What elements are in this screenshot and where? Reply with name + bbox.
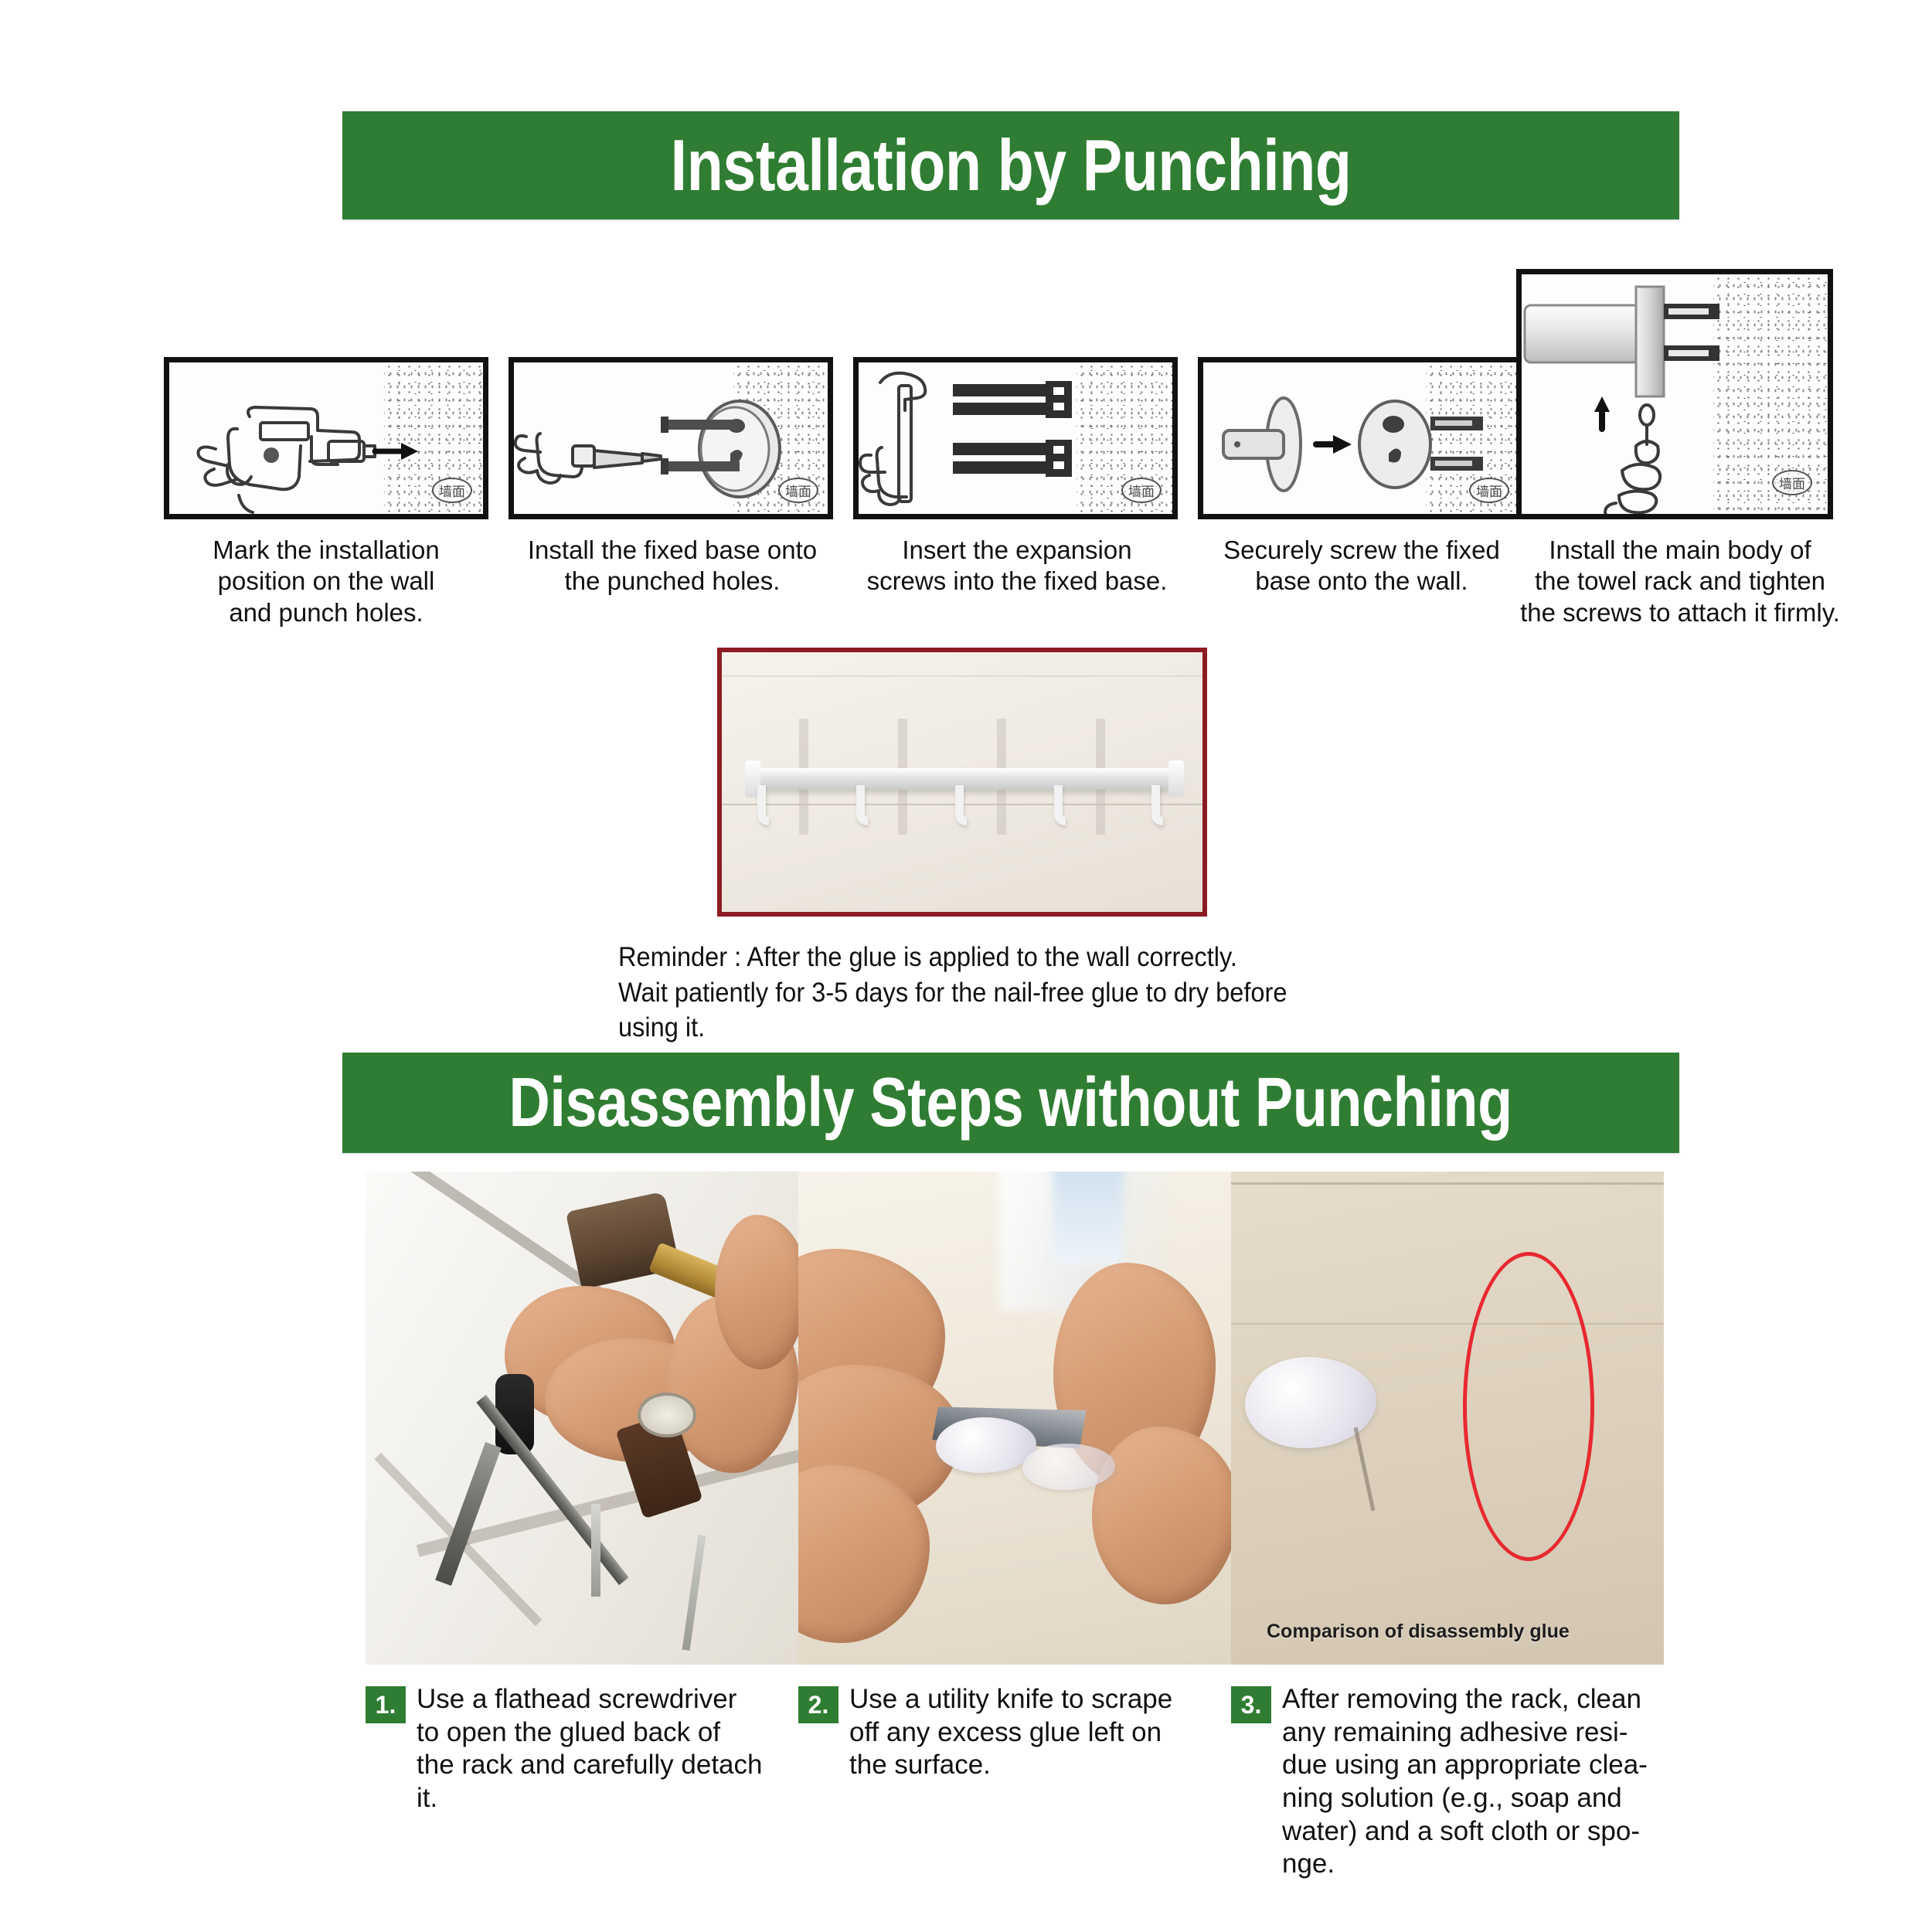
wall-label-icon: 墙面 <box>432 478 472 503</box>
disassembly-photo-2 <box>798 1172 1231 1665</box>
highlight-ellipse-icon <box>1463 1252 1594 1561</box>
install-step-panel-1: 墙面 <box>164 357 488 519</box>
install-step-caption-1: Mark the installation position on the wa… <box>147 535 505 628</box>
infographic-page: Installation by Punching 墙面 <box>0 0 1932 1932</box>
install-step-panel-5: 墙面 <box>1516 269 1833 519</box>
banner-installation-by-punching: Installation by Punching <box>342 111 1679 219</box>
install-step-panel-3: 墙面 <box>853 357 1178 519</box>
step-text-1: Use a flathead screwdriver to open the g… <box>417 1683 762 1815</box>
step-text-2: Use a utility knife to scrape off any ex… <box>849 1683 1172 1782</box>
reminder-text: Reminder : After the glue is applied to … <box>618 940 1380 1046</box>
photo-comparison-label: Comparison of disassembly glue <box>1267 1621 1570 1643</box>
wall-label-icon: 墙面 <box>1469 478 1509 503</box>
disassembly-photo-3: Comparison of disassembly glue <box>1231 1172 1664 1665</box>
install-step-caption-5: Install the main body of the towel rack … <box>1498 535 1862 628</box>
step-badge-2: 2. <box>798 1686 838 1723</box>
product-photo-hook-rack <box>717 648 1207 917</box>
disassembly-step-2: 2. Use a utility knife to scrape off any… <box>798 1683 1231 1782</box>
install-step-caption-2: Install the fixed base onto the punched … <box>493 535 852 597</box>
install-step-caption-4: Securely screw the fixed base onto the w… <box>1182 535 1541 597</box>
wall-label-icon: 墙面 <box>1772 470 1812 495</box>
install-step-panel-2: 墙面 <box>509 357 833 519</box>
wall-label-icon: 墙面 <box>778 478 818 503</box>
step-badge-1: 1. <box>366 1686 406 1723</box>
disassembly-step-1: 1. Use a flathead screwdriver to open th… <box>366 1683 798 1815</box>
disassembly-photo-1 <box>366 1172 798 1665</box>
step-badge-3: 3. <box>1231 1686 1271 1723</box>
step-text-3: After removing the rack, clean any remai… <box>1282 1683 1648 1881</box>
banner-disassembly-title: Disassembly Steps without Punching <box>509 1063 1512 1143</box>
banner-installation-title: Installation by Punching <box>671 124 1352 207</box>
install-step-panel-4: 墙面 <box>1198 357 1522 519</box>
install-step-caption-3: Insert the expansion screws into the fix… <box>838 535 1196 597</box>
banner-disassembly-steps: Disassembly Steps without Punching <box>342 1053 1679 1153</box>
wall-label-icon: 墙面 <box>1121 478 1162 503</box>
disassembly-step-3: 3. After removing the rack, clean any re… <box>1231 1683 1664 1881</box>
